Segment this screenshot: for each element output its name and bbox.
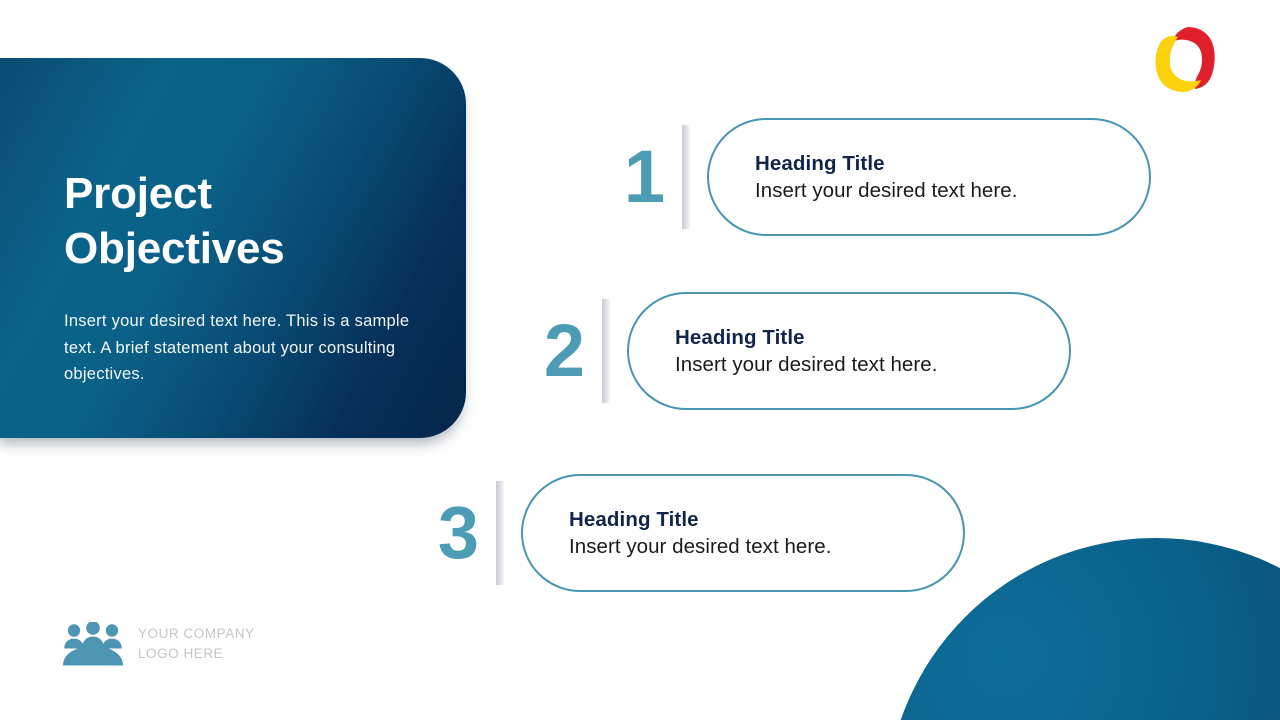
objective-number-3: 3 xyxy=(434,496,482,570)
rounded-square-ring-icon xyxy=(1148,21,1220,101)
row-divider-3 xyxy=(496,481,505,585)
title-panel: Project Objectives Insert your desired t… xyxy=(0,58,466,438)
objective-card-text-3: Insert your desired text here. xyxy=(569,533,917,560)
objective-row-3[interactable]: 3 Heading Title Insert your desired text… xyxy=(434,474,965,592)
panel-description: Insert your desired text here. This is a… xyxy=(64,308,422,388)
objective-card-heading-3: Heading Title xyxy=(569,506,917,533)
objective-card-heading-2: Heading Title xyxy=(675,324,1023,351)
people-group-icon xyxy=(62,622,124,666)
slide-canvas: Project Objectives Insert your desired t… xyxy=(0,0,1280,720)
objective-row-2[interactable]: 2 Heading Title Insert your desired text… xyxy=(540,292,1071,410)
objective-card-text-1: Insert your desired text here. xyxy=(755,177,1103,204)
company-logo-placeholder: YOUR COMPANY LOGO HERE xyxy=(62,622,255,666)
objective-card-2[interactable]: Heading Title Insert your desired text h… xyxy=(627,292,1071,410)
objective-row-1[interactable]: 1 Heading Title Insert your desired text… xyxy=(620,118,1151,236)
company-logo-label: YOUR COMPANY LOGO HERE xyxy=(138,624,255,664)
objective-card-heading-1: Heading Title xyxy=(755,150,1103,177)
objective-card-1[interactable]: Heading Title Insert your desired text h… xyxy=(707,118,1151,236)
objective-number-2: 2 xyxy=(540,314,588,388)
row-divider-2 xyxy=(602,299,611,403)
objective-card-text-2: Insert your desired text here. xyxy=(675,351,1023,378)
title-panel-content: Project Objectives Insert your desired t… xyxy=(64,58,426,438)
page-title: Project Objectives xyxy=(64,166,285,277)
row-divider-1 xyxy=(682,125,691,229)
objective-card-3[interactable]: Heading Title Insert your desired text h… xyxy=(521,474,965,592)
objective-number-1: 1 xyxy=(620,140,668,214)
